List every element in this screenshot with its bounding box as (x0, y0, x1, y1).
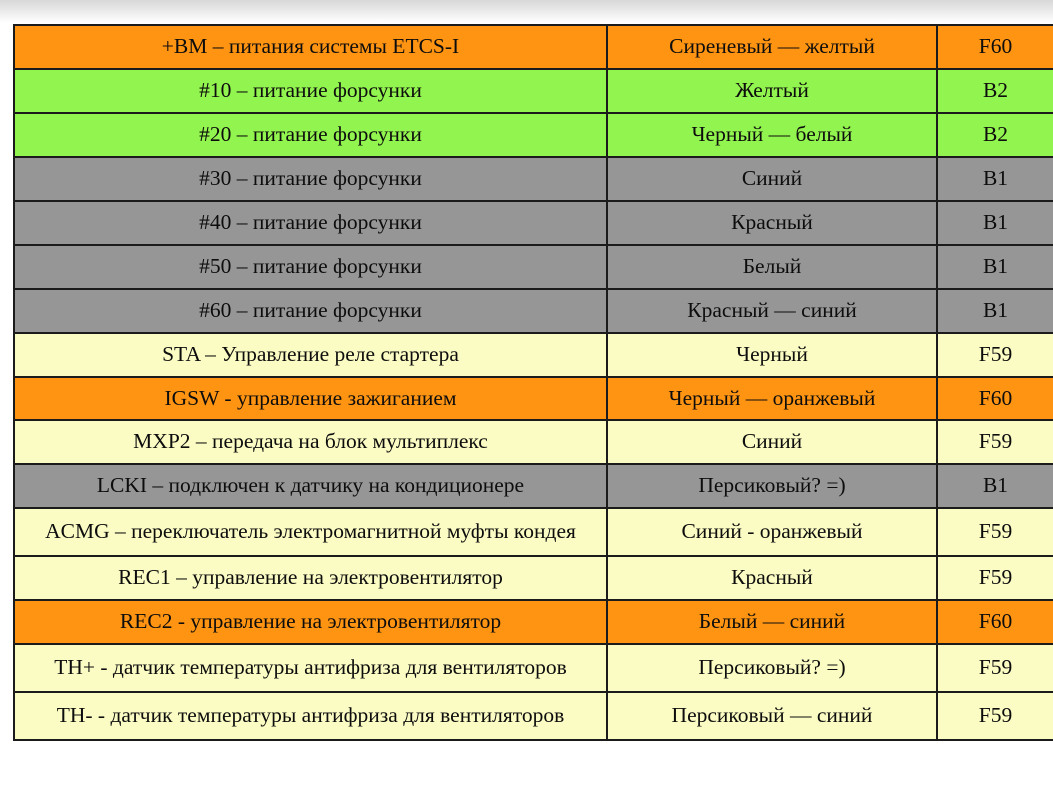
cell-wire: Синий (607, 420, 937, 464)
cell-fuse: B1 (937, 245, 1053, 289)
table-row: #50 – питание форсункиБелыйB1 (14, 245, 1053, 289)
table-row: #10 – питание форсункиЖелтыйB2 (14, 69, 1053, 113)
cell-fuse: B1 (937, 201, 1053, 245)
cell-signal: REC1 – управление на электровентилятор (14, 556, 607, 600)
table-row: TH- - датчик температуры антифриза для в… (14, 692, 1053, 740)
cell-signal: MXP2 – передача на блок мультиплекс (14, 420, 607, 464)
cell-wire: Черный — белый (607, 113, 937, 157)
cell-signal: #20 – питание форсунки (14, 113, 607, 157)
cell-fuse: F59 (937, 508, 1053, 556)
cell-fuse: F60 (937, 600, 1053, 644)
table-row: TH+ - датчик температуры антифриза для в… (14, 644, 1053, 692)
cell-signal: #10 – питание форсунки (14, 69, 607, 113)
cell-wire: Желтый (607, 69, 937, 113)
cell-signal: LCKI – подключен к датчику на кондиционе… (14, 464, 607, 508)
cell-signal: IGSW - управление зажиганием (14, 377, 607, 421)
cell-signal: +BM – питания системы ETCS-I (14, 25, 607, 69)
cell-wire: Синий - оранжевый (607, 508, 937, 556)
cell-fuse: F59 (937, 692, 1053, 740)
cell-signal: TH- - датчик температуры антифриза для в… (14, 692, 607, 740)
cell-wire: Сиреневый — желтый (607, 25, 937, 69)
cell-fuse: F59 (937, 420, 1053, 464)
table-row: #30 – питание форсункиСинийB1 (14, 157, 1053, 201)
cell-wire: Белый (607, 245, 937, 289)
table-row: STA – Управление реле стартераЧерныйF59 (14, 333, 1053, 377)
cell-fuse: B1 (937, 157, 1053, 201)
cell-signal: STA – Управление реле стартера (14, 333, 607, 377)
cell-fuse: B2 (937, 113, 1053, 157)
cell-fuse: F60 (937, 25, 1053, 69)
table-row: MXP2 – передача на блок мультиплексСиний… (14, 420, 1053, 464)
wiring-table: +BM – питания системы ETCS-IСиреневый — … (13, 24, 1053, 741)
cell-signal: TH+ - датчик температуры антифриза для в… (14, 644, 607, 692)
cell-signal: #40 – питание форсунки (14, 201, 607, 245)
cell-fuse: F59 (937, 644, 1053, 692)
cell-wire: Синий (607, 157, 937, 201)
wiring-table-container: +BM – питания системы ETCS-IСиреневый — … (13, 24, 1053, 741)
cell-wire: Черный — оранжевый (607, 377, 937, 421)
cell-wire: Красный (607, 556, 937, 600)
cell-wire: Красный — синий (607, 289, 937, 333)
cell-signal: #50 – питание форсунки (14, 245, 607, 289)
cell-signal: #60 – питание форсунки (14, 289, 607, 333)
cell-fuse: B2 (937, 69, 1053, 113)
cell-fuse: F59 (937, 333, 1053, 377)
table-row: REC2 - управление на электровентиляторБе… (14, 600, 1053, 644)
table-row: REC1 – управление на электровентиляторКр… (14, 556, 1053, 600)
cell-wire: Черный (607, 333, 937, 377)
cell-signal: ACMG – переключатель электромагнитной му… (14, 508, 607, 556)
cell-signal: REC2 - управление на электровентилятор (14, 600, 607, 644)
table-row: ACMG – переключатель электромагнитной му… (14, 508, 1053, 556)
table-row: #20 – питание форсункиЧерный — белыйB2 (14, 113, 1053, 157)
table-row: LCKI – подключен к датчику на кондиционе… (14, 464, 1053, 508)
cell-wire: Красный (607, 201, 937, 245)
cell-wire: Персиковый? =) (607, 644, 937, 692)
page-top-gradient (0, 0, 1053, 24)
table-row: #40 – питание форсункиКрасныйB1 (14, 201, 1053, 245)
wiring-table-body: +BM – питания системы ETCS-IСиреневый — … (14, 25, 1053, 740)
table-row: #60 – питание форсункиКрасный — синийB1 (14, 289, 1053, 333)
cell-wire: Белый — синий (607, 600, 937, 644)
cell-fuse: B1 (937, 464, 1053, 508)
cell-wire: Персиковый — синий (607, 692, 937, 740)
table-row: +BM – питания системы ETCS-IСиреневый — … (14, 25, 1053, 69)
cell-fuse: B1 (937, 289, 1053, 333)
table-row: IGSW - управление зажиганиемЧерный — ора… (14, 377, 1053, 421)
cell-wire: Персиковый? =) (607, 464, 937, 508)
cell-signal: #30 – питание форсунки (14, 157, 607, 201)
cell-fuse: F60 (937, 377, 1053, 421)
cell-fuse: F59 (937, 556, 1053, 600)
